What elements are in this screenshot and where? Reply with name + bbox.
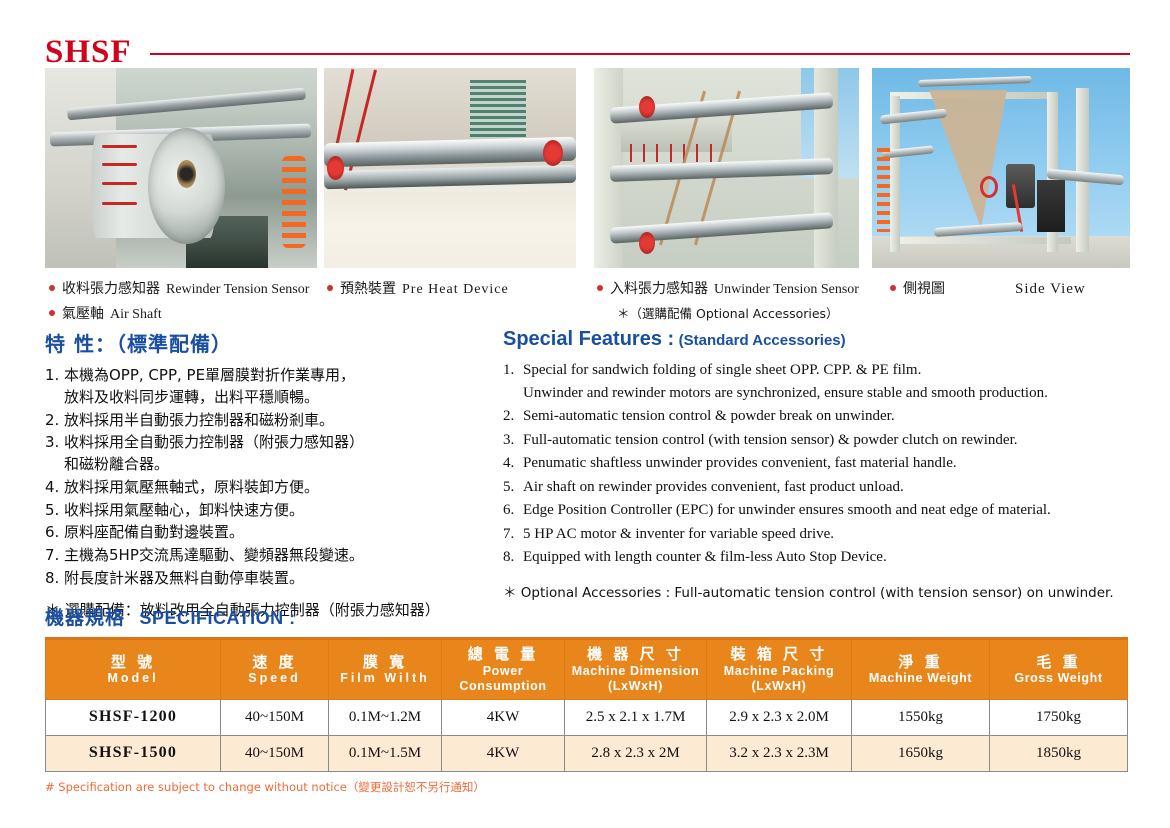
table-cell-film-width: 0.1M~1.2M [329,699,442,735]
list-item-line: 主機為5HP交流馬達驅動、變頻器無段變速。 [64,545,500,567]
list-item: 6.原料座配備自動對邊裝置。 [45,522,500,544]
caption-cn: 收料張力感知器 [62,278,160,298]
list-item-line: Penumatic shaftless unwinder provides co… [523,452,1143,475]
caption-group-4: 側視圖 Side View [890,278,1130,303]
table-header-cn: 機 器 尺 寸 [567,645,704,664]
table-cell-machine-weight: 1550kg [852,699,990,735]
list-item: 8.Equipped with length counter & film-le… [503,546,1143,569]
list-item: 4.Penumatic shaftless unwinder provides … [503,452,1143,475]
list-item: 3.Full-automatic tension control (with t… [503,429,1143,452]
table-cell-machine-packing: 3.2 x 2.3 x 2.3M [707,735,852,771]
specification-heading: 機器規格 SPECIFICATION : [45,603,296,630]
list-item-text: 收料採用全自動張力控制器（附張力感知器）和磁粉離合器。 [64,432,500,476]
list-item-line: Full-automatic tension control (with ten… [523,429,1143,452]
table-header-en: (LxWxH) [567,679,704,694]
caption-line: 氣壓軸 Air Shaft [49,303,329,323]
list-item: 3.收料採用全自動張力控制器（附張力感知器）和磁粉離合器。 [45,432,500,476]
list-item-text: Full-automatic tension control (with ten… [523,429,1143,452]
footnote: # Specification are subject to change wi… [45,779,485,795]
list-item-text: 主機為5HP交流馬達驅動、變頻器無段變速。 [64,545,500,567]
table-cell-speed: 40~150M [221,735,329,771]
list-item-line: Air shaft on rewinder provides convenien… [523,476,1143,499]
caption-en: Pre Heat Device [402,282,509,298]
list-item: 7.5 HP AC motor & inventer for variable … [503,523,1143,546]
list-item-line: 收料採用氣壓軸心，卸料快速方便。 [64,500,500,522]
caption-cn: 氣壓軸 [62,303,104,323]
specification-table: 型 號Model速 度Speed膜 寬Film Wilth總 電 量PowerC… [45,637,1128,772]
list-item-line: 原料座配備自動對邊裝置。 [64,522,500,544]
list-item: 2.放料採用半自動張力控制器和磁粉剎車。 [45,410,500,432]
table-cell-power: 4KW [442,699,565,735]
title-divider-rule [150,53,1130,55]
bullet-icon [327,285,333,291]
table-header-en: (LxWxH) [709,679,849,694]
table-cell-gross-weight: 1850kg [990,735,1128,771]
list-item: 8.附長度計米器及無料自動停車裝置。 [45,568,500,590]
caption-cn: 預熱裝置 [340,278,396,298]
caption-cn: 入料張力感知器 [610,278,708,298]
table-header-en: Machine Weight [854,671,987,686]
caption-line: 入料張力感知器 Unwinder Tension Sensor [597,278,887,298]
features-section-english: Special Features : (Standard Accessories… [503,328,1143,601]
list-item-text: Air shaft on rewinder provides convenien… [523,476,1143,499]
caption-optional-note: ＊（選購配備 Optional Accessories） [617,303,839,322]
list-item-line: Unwinder and rewinder motors are synchro… [523,382,1143,405]
list-item: 2.Semi-automatic tension control & powde… [503,405,1143,428]
table-header-cn: 速 度 [223,653,326,672]
pre-heat-device-photo [324,68,576,268]
caption-en: Unwinder Tension Sensor [714,282,859,298]
features-heading-en: Special Features : (Standard Accessories… [503,328,1143,351]
list-item-line: Semi-automatic tension control & powder … [523,405,1143,428]
list-item-number: 6. [45,522,64,544]
list-item-number: 1. [503,359,523,404]
list-item-number: 6. [503,499,523,522]
table-header-en: Power [444,664,562,679]
bullet-icon [49,310,55,316]
list-item-line: 收料採用全自動張力控制器（附張力感知器） [64,432,500,454]
list-item-text: Semi-automatic tension control & powder … [523,405,1143,428]
list-item-line: 本機為OPP, CPP, PE單層膜對折作業專用， [64,365,500,387]
list-item-line: 放料採用半自動張力控制器和磁粉剎車。 [64,410,500,432]
table-row: SHSF-150040~150M0.1M~1.5M4KW2.8 x 2.3 x … [46,735,1128,771]
list-item: 1.Special for sandwich folding of single… [503,359,1143,404]
table-header-en: Film Wilth [331,671,439,686]
table-cell-power: 4KW [442,735,565,771]
list-item-line: Special for sandwich folding of single s… [523,359,1143,382]
list-item-line: 和磁粉離合器。 [64,454,500,476]
table-header-cn: 裝 箱 尺 寸 [709,645,849,664]
side-view-photo [872,68,1130,268]
caption-line: 側視圖 Side View [890,278,1130,298]
table-cell-model: SHSF-1200 [46,699,221,735]
caption-cn: 側視圖 [903,278,945,298]
list-item-text: 收料採用氣壓軸心，卸料快速方便。 [64,500,500,522]
table-header-cn: 總 電 量 [444,645,562,664]
list-item: 1.本機為OPP, CPP, PE單層膜對折作業專用，放料及收料同步運轉，出料平… [45,365,500,409]
table-header-cn: 淨 重 [854,653,987,672]
table-cell-model: SHSF-1500 [46,735,221,771]
spec-heading-cn: 機器規格 [45,607,125,629]
unwinder-tension-sensor-photo [594,68,859,268]
table-header-cell: 總 電 量PowerConsumption [442,639,565,700]
optional-accessories-en: ＊ Optional Accessories : Full-automatic … [503,581,1143,601]
table-row: SHSF-120040~150M0.1M~1.2M4KW2.5 x 2.1 x … [46,699,1128,735]
caption-line: 收料張力感知器 Rewinder Tension Sensor [49,278,329,298]
caption-en: Air Shaft [110,307,162,323]
table-header-en: Speed [223,671,326,686]
table-cell-gross-weight: 1750kg [990,699,1128,735]
photo-strip [45,68,1130,268]
table-cell-machine-dimension: 2.8 x 2.3 x 2M [565,735,707,771]
caption-en: Rewinder Tension Sensor [166,282,309,298]
list-item: 6.Edge Position Controller (EPC) for unw… [503,499,1143,522]
list-item-line: Edge Position Controller (EPC) for unwin… [523,499,1143,522]
features-list-cn: 1.本機為OPP, CPP, PE單層膜對折作業專用，放料及收料同步運轉，出料平… [45,365,500,590]
list-item-text: Equipped with length counter & film-less… [523,546,1143,569]
list-item-number: 3. [503,429,523,452]
table-header-cell: 機 器 尺 寸Machine Dimension(LxWxH) [565,639,707,700]
table-body: SHSF-120040~150M0.1M~1.2M4KW2.5 x 2.1 x … [46,699,1128,771]
bullet-icon [890,285,896,291]
table-cell-machine-dimension: 2.5 x 2.1 x 1.7M [565,699,707,735]
list-item-line: 放料採用氣壓無軸式，原料裝卸方便。 [64,477,500,499]
photo-captions: 收料張力感知器 Rewinder Tension Sensor 氣壓軸 Air … [45,278,1130,322]
list-item-text: 放料採用半自動張力控制器和磁粉剎車。 [64,410,500,432]
list-item: 5.Air shaft on rewinder provides conveni… [503,476,1143,499]
table-header-cell: 型 號Model [46,639,221,700]
list-item-line: 5 HP AC motor & inventer for variable sp… [523,523,1143,546]
list-item-number: 2. [45,410,64,432]
page-title-row: SHSF [45,32,1130,72]
caption-line: ＊（選購配備 Optional Accessories） [597,303,887,322]
list-item-number: 4. [45,477,64,499]
table-header-cell: 毛 重Gross Weight [990,639,1128,700]
list-item-line: 附長度計米器及無料自動停車裝置。 [64,568,500,590]
caption-group-1: 收料張力感知器 Rewinder Tension Sensor 氣壓軸 Air … [49,278,329,328]
list-item-line: 放料及收料同步運轉，出料平穩順暢。 [64,387,500,409]
list-item-line: Equipped with length counter & film-less… [523,546,1143,569]
table-header-en: Gross Weight [992,671,1125,686]
list-item-text: 本機為OPP, CPP, PE單層膜對折作業專用，放料及收料同步運轉，出料平穩順… [64,365,500,409]
list-item-text: 5 HP AC motor & inventer for variable sp… [523,523,1143,546]
list-item: 5.收料採用氣壓軸心，卸料快速方便。 [45,500,500,522]
caption-line: 預熱裝置 Pre Heat Device [327,278,597,298]
list-item-number: 5. [503,476,523,499]
list-item-text: Special for sandwich folding of single s… [523,359,1143,404]
caption-group-3: 入料張力感知器 Unwinder Tension Sensor ＊（選購配備 O… [597,278,887,327]
list-item-text: 放料採用氣壓無軸式，原料裝卸方便。 [64,477,500,499]
table-header-en: Consumption [444,679,562,694]
rewinder-tension-sensor-photo [45,68,317,268]
list-item-number: 2. [503,405,523,428]
features-heading-main: Special Features : [503,328,674,350]
list-item-number: 4. [503,452,523,475]
features-section-chinese: 特 性：（標準配備） 1.本機為OPP, CPP, PE單層膜對折作業專用，放料… [45,328,500,620]
table-cell-speed: 40~150M [221,699,329,735]
table-header-cn: 膜 寬 [331,653,439,672]
table-cell-film-width: 0.1M~1.5M [329,735,442,771]
table-header-en: Model [48,671,218,686]
product-spec-sheet: SHSF [0,0,1170,828]
features-list-en: 1.Special for sandwich folding of single… [503,359,1143,569]
table-header-cell: 裝 箱 尺 寸Machine Packing(LxWxH) [707,639,852,700]
features-heading-sub: (Standard Accessories) [679,332,846,349]
list-item-text: Edge Position Controller (EPC) for unwin… [523,499,1143,522]
list-item: 4.放料採用氣壓無軸式，原料裝卸方便。 [45,477,500,499]
list-item-number: 8. [45,568,64,590]
list-item-number: 3. [45,432,64,476]
list-item-text: 附長度計米器及無料自動停車裝置。 [64,568,500,590]
table-header-cell: 膜 寬Film Wilth [329,639,442,700]
table-header-en: Machine Packing [709,664,849,679]
list-item-number: 7. [503,523,523,546]
table-header-cell: 速 度Speed [221,639,329,700]
list-item-number: 7. [45,545,64,567]
list-item: 7.主機為5HP交流馬達驅動、變頻器無段變速。 [45,545,500,567]
table-cell-machine-weight: 1650kg [852,735,990,771]
page-title: SHSF [45,34,132,71]
list-item-number: 5. [45,500,64,522]
table-cell-machine-packing: 2.9 x 2.3 x 2.0M [707,699,852,735]
features-heading-cn: 特 性：（標準配備） [45,328,500,357]
bullet-icon [597,285,603,291]
bullet-icon [49,285,55,291]
table-header-en: Machine Dimension [567,664,704,679]
list-item-number: 1. [45,365,64,409]
table-header-cn: 型 號 [48,653,218,672]
table-header-cell: 淨 重Machine Weight [852,639,990,700]
table-header-row: 型 號Model速 度Speed膜 寬Film Wilth總 電 量PowerC… [46,639,1128,700]
table-header-cn: 毛 重 [992,653,1125,672]
list-item-number: 8. [503,546,523,569]
list-item-text: 原料座配備自動對邊裝置。 [64,522,500,544]
caption-en: Side View [1015,281,1086,298]
spec-heading-en: SPECIFICATION : [139,608,295,628]
list-item-text: Penumatic shaftless unwinder provides co… [523,452,1143,475]
caption-group-2: 預熱裝置 Pre Heat Device [327,278,597,303]
